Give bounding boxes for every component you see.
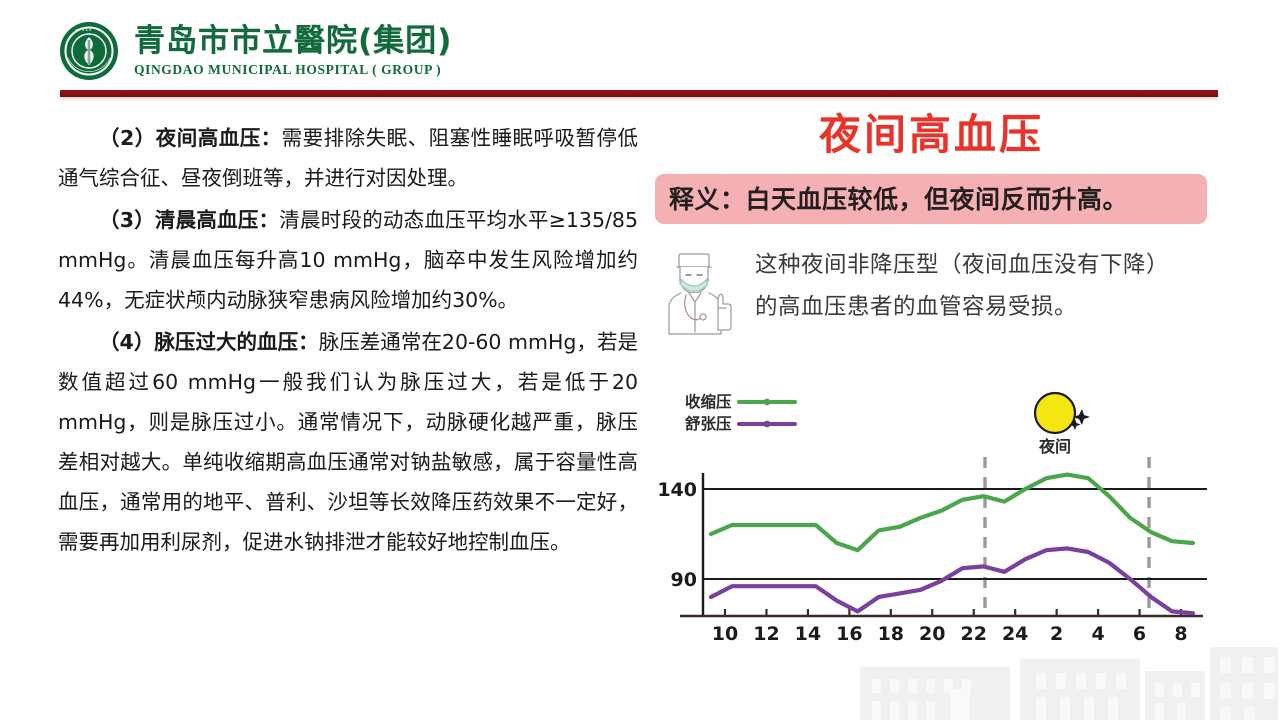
x-axis-ticks: 10121416182022242468 [712, 609, 1188, 645]
legend-marker-systolic [764, 399, 771, 406]
hospital-emblem-icon: ★ ★ ★ ★ ★ [58, 20, 120, 82]
doctor-note-line-1: 这种夜间非降压型（夜间血压没有下降） [755, 244, 1169, 286]
building-watermark-icon [850, 645, 1280, 720]
svg-text:★ ★ ★ ★ ★: ★ ★ ★ ★ ★ [75, 28, 92, 32]
night-boundary-markers [985, 457, 1149, 615]
blood-pressure-chart: 收缩压 舒张压 夜间 [655, 385, 1235, 650]
night-label: 夜间 [1038, 437, 1071, 456]
x-tick-label: 14 [795, 623, 821, 645]
chart-svg: 收缩压 舒张压 夜间 [655, 385, 1235, 650]
illustration-column: 夜间高血压 释义：白天血压较低，但夜间反而升高。 [655, 112, 1235, 338]
night-annotation: 夜间 [1035, 393, 1090, 456]
paragraph-4-lead: （4）脉压过大的血压： [99, 330, 319, 354]
hospital-name-block: 青岛市市立醫院(集团) QINGDAO MUNICIPAL HOSPITAL (… [134, 24, 452, 78]
paragraph-4: （4）脉压过大的血压：脉压差通常在20-60 mmHg，若是数值超过60 mmH… [58, 322, 638, 562]
hospital-logo: ★ ★ ★ ★ ★ 青岛市市立醫院(集团) QINGDAO MUNICIPAL … [58, 20, 452, 82]
x-tick-label: 10 [712, 623, 738, 645]
paragraph-4-body: 脉压差通常在20-60 mmHg，若是数值超过60 mmHg一般我们认为脉压过大… [58, 330, 638, 554]
doctor-note: 这种夜间非降压型（夜间血压没有下降） 的高血压患者的血管容易受损。 [655, 244, 1235, 338]
paragraph-3: （3）清晨高血压：清晨时段的动态血压平均水平≥135/85 mmHg。清晨血压每… [58, 200, 638, 320]
hospital-name-en: QINGDAO MUNICIPAL HOSPITAL ( GROUP ) [134, 62, 452, 78]
x-tick-label: 20 [919, 623, 945, 645]
doctor-note-line-2: 的高血压患者的血管容易受损。 [755, 286, 1169, 328]
x-tick-label: 8 [1174, 623, 1187, 645]
slide-header: ★ ★ ★ ★ ★ 青岛市市立醫院(集团) QINGDAO MUNICIPAL … [0, 0, 1280, 105]
legend-marker-diastolic [764, 421, 771, 428]
nocturnal-hypertension-title: 夜间高血压 [659, 112, 1204, 158]
legend-label-systolic: 收缩压 [685, 392, 732, 411]
chart-legend: 收缩压 舒张压 [685, 392, 795, 433]
x-tick-label: 22 [961, 623, 987, 645]
y-tick-label-90: 90 [671, 569, 697, 591]
y-tick-label-140: 140 [657, 479, 697, 501]
header-divider [60, 90, 1218, 97]
paragraph-3-lead: （3）清晨高血压： [99, 208, 279, 232]
x-tick-label: 12 [753, 623, 779, 645]
doctor-figure-icon [655, 246, 741, 338]
hospital-name-cn: 青岛市市立醫院(集团) [134, 24, 452, 59]
legend-label-diastolic: 舒张压 [685, 414, 732, 433]
body-text-column: （2）夜间高血压：需要排除失眠、阻塞性睡眠呼吸暂停低通气综合征、昼夜倒班等，并进… [58, 118, 638, 564]
paragraph-2: （2）夜间高血压：需要排除失眠、阻塞性睡眠呼吸暂停低通气综合征、昼夜倒班等，并进… [58, 118, 638, 198]
x-tick-label: 6 [1133, 623, 1146, 645]
x-tick-label: 2 [1050, 623, 1063, 645]
x-tick-label: 18 [878, 623, 904, 645]
paragraph-2-lead: （2）夜间高血压： [99, 126, 282, 150]
series-line-diastolic [711, 548, 1193, 613]
definition-text: 释义：白天血压较低，但夜间反而升高。 [669, 180, 1128, 216]
x-tick-label: 16 [836, 623, 862, 645]
definition-callout: 释义：白天血压较低，但夜间反而升高。 [655, 174, 1207, 224]
doctor-note-text: 这种夜间非降压型（夜间血压没有下降） 的高血压患者的血管容易受损。 [755, 244, 1169, 328]
slide-page: ★ ★ ★ ★ ★ 青岛市市立醫院(集团) QINGDAO MUNICIPAL … [0, 0, 1280, 720]
x-tick-label: 24 [1002, 623, 1028, 645]
series-line-systolic [711, 475, 1193, 551]
x-tick-label: 4 [1091, 623, 1104, 645]
moon-icon [1035, 393, 1075, 433]
